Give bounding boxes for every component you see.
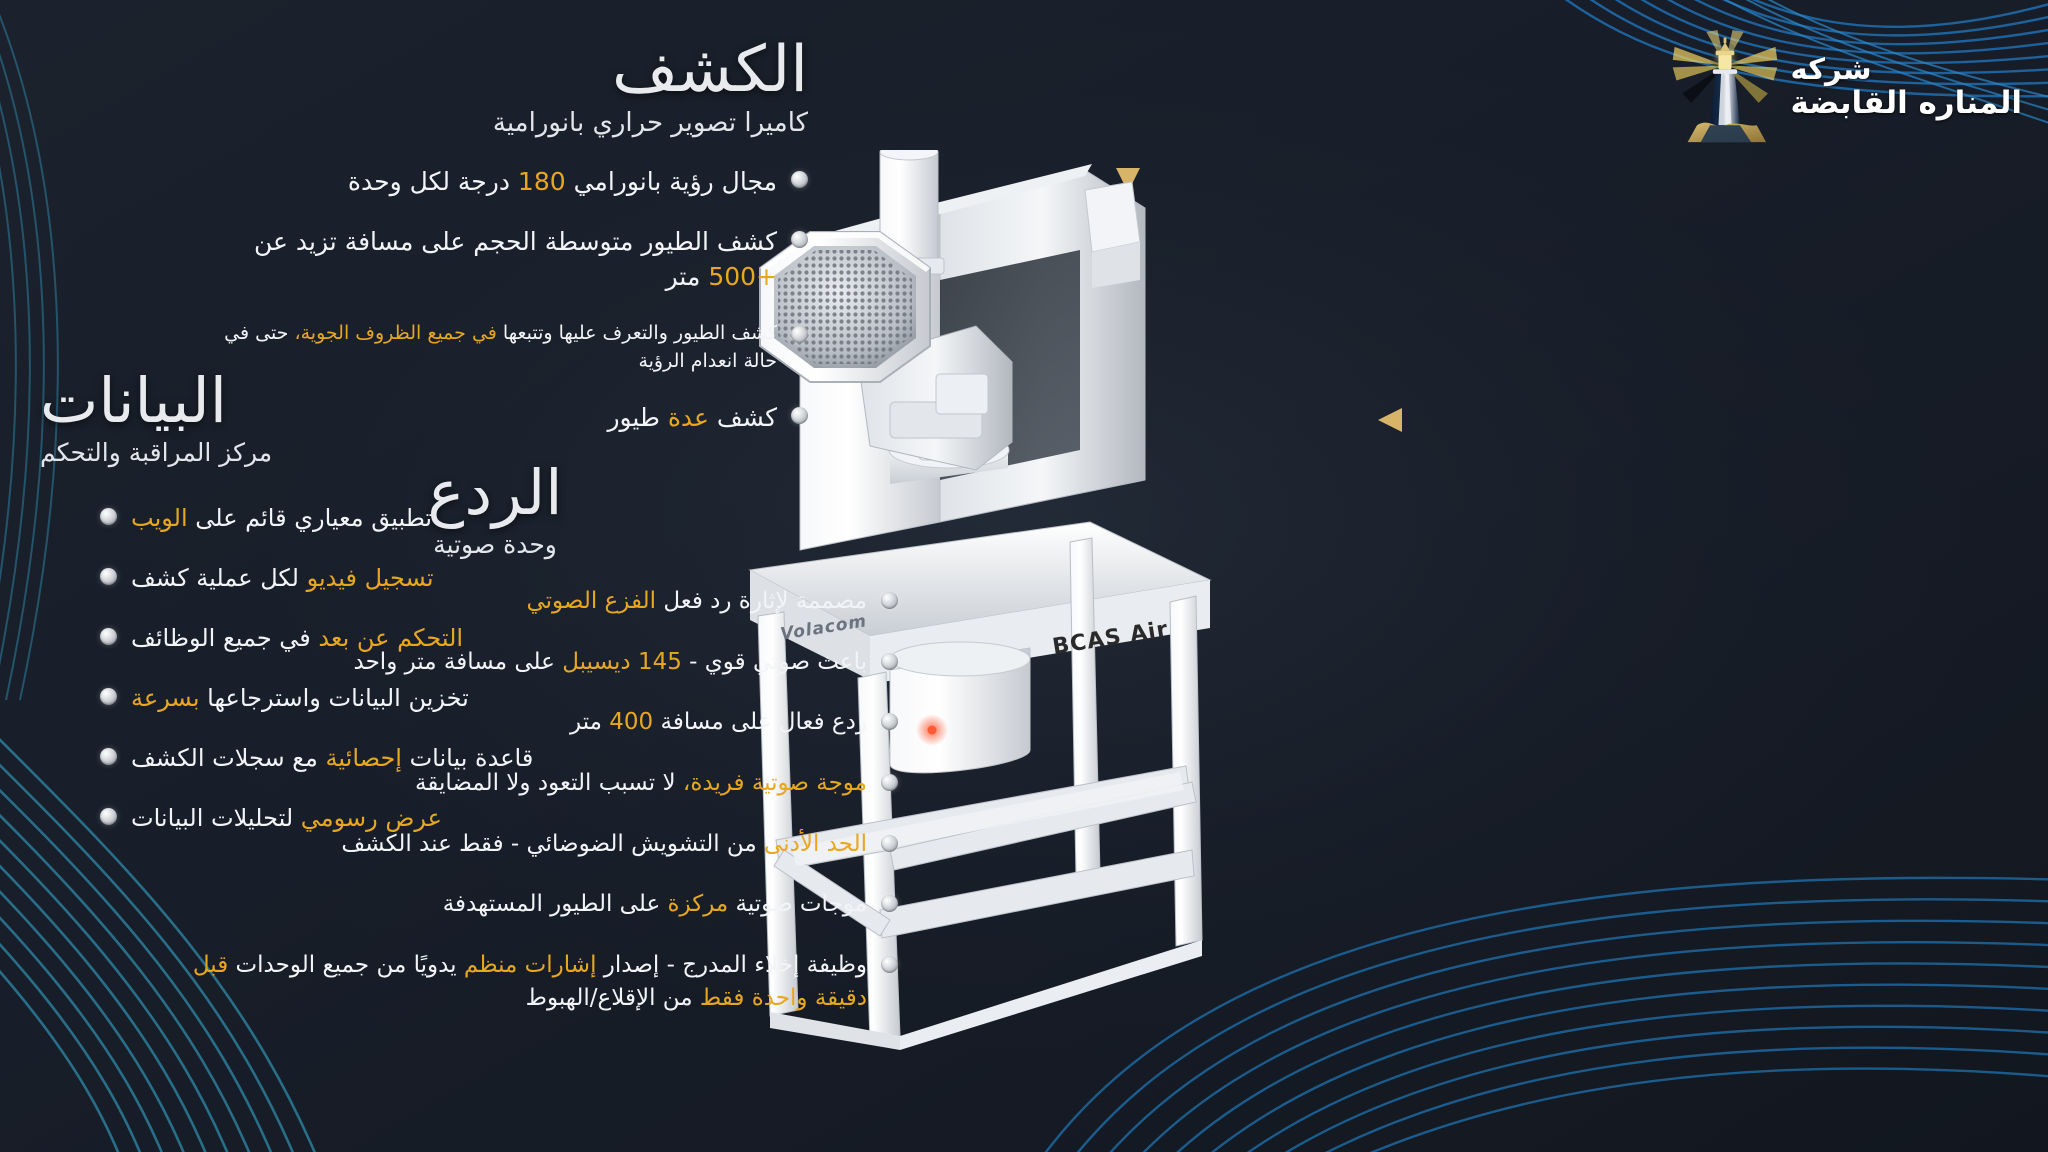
section-data: البيانات مركز المراقبة والتحكم تطبيق معي… — [40, 370, 600, 861]
company-logo: شركه المناره القابضة — [1669, 28, 2023, 146]
plain-text: لكل عملية كشف — [131, 564, 307, 592]
slide-canvas: شركه المناره القابضة — [0, 0, 2048, 1152]
list-item: مجال رؤية بانورامي 180 درجة لكل وحدة — [198, 164, 808, 200]
plain-text: ردع فعال على مسافة — [653, 709, 867, 735]
plain-text: وظيفة إخلاء المدرج - إصدار — [596, 952, 867, 978]
list-item-text: كشف الطيور متوسطة الحجم على مسافة تزيد ع… — [198, 224, 777, 295]
highlight-text: عرض رسومي — [301, 804, 442, 832]
plain-text: مجال رؤية بانورامي — [566, 167, 777, 196]
list-item: كشف الطيور متوسطة الحجم على مسافة تزيد ع… — [198, 224, 808, 295]
bullet-dot-icon — [791, 171, 808, 188]
plain-text: مصممة لإثارة رد فعل — [656, 588, 867, 614]
list-item-text: قاعدة بيانات إحصائية مع سجلات الكشف — [131, 741, 533, 775]
bullet-dot-icon — [881, 713, 898, 730]
highlight-text: موجة صوتية فريدة، — [683, 770, 867, 796]
highlight-text: في جميع الظروف الجوية، — [294, 322, 496, 344]
highlight-text: 180 — [518, 167, 566, 196]
list-item: تطبيق معياري قائم على الويب — [40, 501, 600, 535]
data-bullet-list: تطبيق معياري قائم على الويبتسجيل فيديو ل… — [40, 501, 600, 861]
bullet-dot-icon — [100, 508, 117, 525]
bullet-dot-icon — [881, 835, 898, 852]
bullet-dot-icon — [881, 774, 898, 791]
list-item-text: وظيفة إخلاء المدرج - إصدار إشارات منظم ي… — [178, 949, 867, 1014]
bullet-dot-icon — [100, 568, 117, 585]
plain-text: كشف الطيور متوسطة الحجم على مسافة تزيد ع… — [254, 227, 777, 256]
plain-text: متر — [666, 262, 709, 291]
plain-text: من الإقلاع/الهبوط — [526, 985, 700, 1011]
data-heading-group: البيانات مركز المراقبة والتحكم — [0, 370, 600, 467]
list-item: وظيفة إخلاء المدرج - إصدار إشارات منظم ي… — [178, 949, 898, 1014]
company-logo-text: شركه المناره القابضة — [1791, 53, 2023, 120]
plain-text: يدويًا من جميع الوحدات — [228, 952, 464, 978]
highlight-text: الحد الأدنى — [764, 831, 867, 857]
list-item-text: عرض رسومي لتحليلات البيانات — [131, 801, 442, 835]
bullet-dot-icon — [100, 748, 117, 765]
plain-text: باعث صوتي قوي - — [682, 649, 867, 675]
plain-text: قاعدة بيانات — [402, 744, 533, 772]
bullet-dot-icon — [791, 326, 808, 343]
plain-text: في جميع الوظائف — [131, 624, 318, 652]
plain-text: لتحليلات البيانات — [131, 804, 301, 832]
data-subtitle: مركز المراقبة والتحكم — [40, 438, 600, 467]
detection-subtitle: كاميرا تصوير حراري بانورامية — [198, 108, 808, 138]
highlight-text: بسرعة — [131, 684, 200, 712]
plain-text: درجة لكل وحدة — [348, 167, 518, 196]
list-item-text: مجال رؤية بانورامي 180 درجة لكل وحدة — [348, 164, 777, 200]
list-item-text: كشف الطيور والتعرف عليها وتتبعها في جميع… — [198, 319, 777, 376]
company-name-line2: المناره القابضة — [1791, 86, 2023, 121]
bullet-dot-icon — [881, 895, 898, 912]
detection-title: الكشف — [198, 38, 808, 102]
highlight-text: مركزة — [668, 891, 729, 917]
list-item: تسجيل فيديو لكل عملية كشف — [40, 561, 600, 595]
plain-text: موجات صوتية — [728, 891, 867, 917]
list-item-text: تسجيل فيديو لكل عملية كشف — [131, 561, 434, 595]
lighthouse-icon — [1669, 28, 1781, 146]
connector-data-arrow — [1378, 408, 1402, 432]
company-name-line1: شركه — [1791, 53, 1872, 85]
highlight-text: عدة — [668, 403, 709, 432]
plain-text: كشف — [709, 403, 777, 432]
list-item-text: تطبيق معياري قائم على الويب — [131, 501, 432, 535]
plain-text: على الطيور المستهدفة — [443, 891, 668, 917]
highlight-text: إشارات منظم — [464, 952, 597, 978]
list-item: موجات صوتية مركزة على الطيور المستهدفة — [178, 888, 898, 921]
list-item: عرض رسومي لتحليلات البيانات — [40, 801, 600, 835]
bullet-dot-icon — [881, 956, 898, 973]
list-item: قاعدة بيانات إحصائية مع سجلات الكشف — [40, 741, 600, 775]
highlight-text: التحكم عن بعد — [318, 624, 463, 652]
list-item-text: التحكم عن بعد في جميع الوظائف — [131, 621, 463, 655]
list-item-text: تخزين البيانات واسترجاعها بسرعة — [131, 681, 469, 715]
plain-text: تطبيق معياري قائم على — [188, 504, 432, 532]
highlight-text: تسجيل فيديو — [307, 564, 434, 592]
bullet-dot-icon — [791, 407, 808, 424]
list-item: التحكم عن بعد في جميع الوظائف — [40, 621, 600, 655]
list-item: تخزين البيانات واسترجاعها بسرعة — [40, 681, 600, 715]
highlight-text: 400 — [609, 709, 653, 735]
plain-text: كشف الطيور والتعرف عليها وتتبعها — [497, 322, 777, 344]
plain-text: تخزين البيانات واسترجاعها — [200, 684, 469, 712]
list-item-text: كشف عدة طيور — [607, 400, 777, 436]
list-item: كشف الطيور والتعرف عليها وتتبعها في جميع… — [198, 319, 808, 376]
bullet-dot-icon — [100, 808, 117, 825]
highlight-text: إحصائية — [326, 744, 402, 772]
plain-text: طيور — [607, 403, 667, 432]
bullet-dot-icon — [881, 592, 898, 609]
data-title: البيانات — [40, 370, 600, 432]
highlight-text: الويب — [131, 504, 188, 532]
bullet-dot-icon — [100, 628, 117, 645]
bullet-dot-icon — [791, 231, 808, 248]
bullet-dot-icon — [881, 653, 898, 670]
list-item-text: ردع فعال على مسافة 400 متر — [570, 706, 867, 739]
list-item-text: موجات صوتية مركزة على الطيور المستهدفة — [443, 888, 867, 921]
bullet-dot-icon — [100, 688, 117, 705]
plain-text: مع سجلات الكشف — [131, 744, 326, 772]
highlight-text: +500 — [708, 262, 777, 291]
